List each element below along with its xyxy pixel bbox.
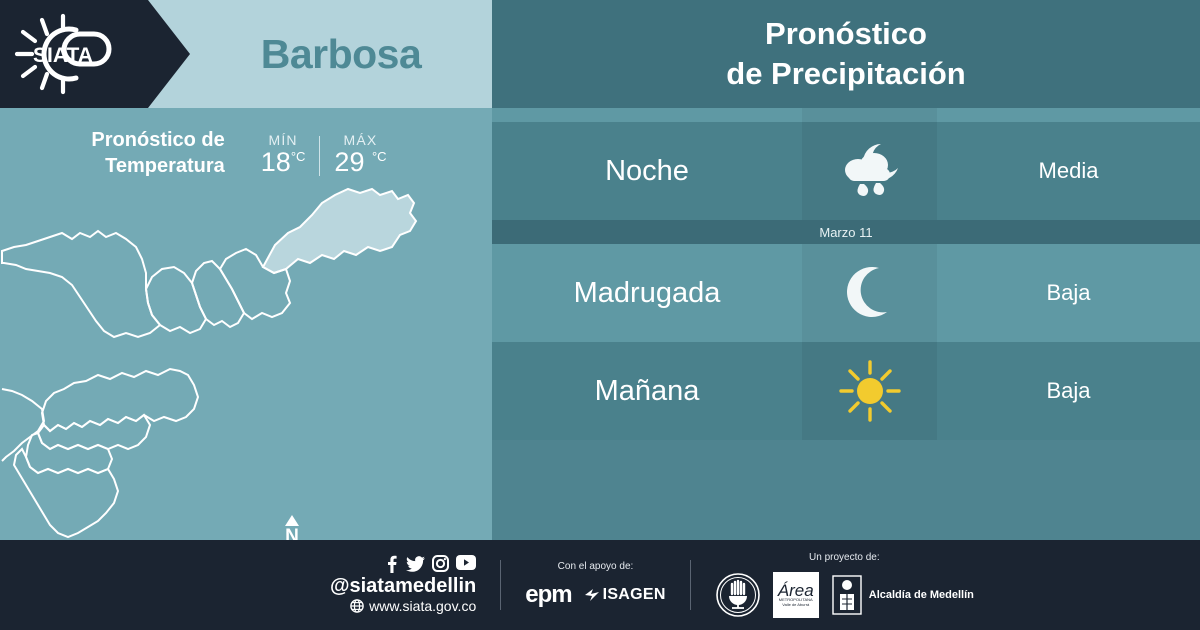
alcaldia-label: Alcaldía de Medellín <box>869 589 974 601</box>
project-logos: Área METROPOLITANA Valle de Aburrá Alcal… <box>715 572 974 618</box>
min-value-wrap: 18°C <box>261 149 306 176</box>
forecast-row: Noche Media <box>492 122 1200 220</box>
support-caption: Con el apoyo de: <box>525 561 666 572</box>
footer-social-block: @siatamedellin www.siata.gov.co <box>330 555 476 615</box>
weather-icon-cell <box>802 244 937 342</box>
temperature-min: MÍN 18°C <box>247 132 320 176</box>
map-svg <box>0 185 492 540</box>
period-label: Mañana <box>492 342 802 440</box>
min-label: MÍN <box>261 132 306 148</box>
forecast-row: Mañana Baja <box>492 342 1200 440</box>
website-label: www.siata.gov.co <box>369 598 476 615</box>
youtube-icon[interactable] <box>456 555 476 570</box>
min-value: 18 <box>261 147 291 177</box>
city-title: Barbosa <box>190 0 492 108</box>
left-panel: SIATA Barbosa Pronóstico de Temperatura … <box>0 0 492 540</box>
precipitation-title: Pronóstico de Precipitación <box>726 14 965 93</box>
support-logos: epm ISAGEN <box>525 581 666 609</box>
isagen-mark-icon <box>584 587 600 603</box>
weather-icon-cell <box>802 122 937 220</box>
map-region-caldas <box>14 449 118 537</box>
temperature-values: MÍN 18°C MÁX 29 °C <box>247 132 401 176</box>
max-value: 29 <box>334 147 364 177</box>
area-script-label: Área <box>778 583 814 598</box>
footer-divider-2 <box>690 560 691 610</box>
map-region-sabaneta <box>26 433 112 473</box>
twitter-icon[interactable] <box>406 555 425 573</box>
sun-cloud-icon: SIATA <box>10 10 140 98</box>
isagen-label: ISAGEN <box>603 586 666 604</box>
right-panel: Pronóstico de Precipitación Marzo 10 Tar… <box>492 0 1200 540</box>
temperature-title-line1: Pronóstico de <box>91 128 224 154</box>
forecast-row: Madrugada Baja <box>492 244 1200 342</box>
alcaldia-emblem-icon <box>831 574 863 616</box>
footer-divider <box>500 560 501 610</box>
aburra-valley-map: N <box>0 185 492 540</box>
map-region-itagui <box>38 415 150 449</box>
precipitation-title-line2: de Precipitación <box>726 56 965 91</box>
precipitation-level: Media <box>937 122 1200 220</box>
date-band-day2: Marzo 11 <box>492 220 1200 244</box>
map-region-bello <box>146 267 206 333</box>
temperature-title-line2: Temperatura <box>91 154 224 180</box>
crescent-moon-icon <box>839 262 901 324</box>
globe-icon <box>350 599 364 613</box>
footer: @siatamedellin www.siata.gov.co Con el a… <box>0 540 1200 630</box>
temperature-title: Pronóstico de Temperatura <box>91 128 224 179</box>
temperature-block: Pronóstico de Temperatura MÍN 18°C MÁX 2… <box>0 118 492 190</box>
temperature-max: MÁX 29 °C <box>320 132 400 176</box>
period-label: Noche <box>492 122 802 220</box>
siata-logo-text: SIATA <box>33 44 93 67</box>
north-arrow-icon <box>285 515 299 526</box>
footer-website[interactable]: www.siata.gov.co <box>330 598 476 615</box>
udea-seal-icon <box>715 572 761 618</box>
weather-forecast-infographic: SIATA Barbosa Pronóstico de Temperatura … <box>0 0 1200 630</box>
map-region-barbosa <box>263 189 416 273</box>
alcaldia-logo: Alcaldía de Medellín <box>831 574 974 616</box>
min-unit: °C <box>291 149 306 164</box>
facebook-icon[interactable] <box>383 555 399 573</box>
area-sub-label-2: Valle de Aburrá <box>782 603 809 607</box>
epm-logo: epm <box>525 581 571 609</box>
sun-icon <box>837 358 903 424</box>
weather-icon-cell <box>802 342 937 440</box>
precipitation-level: Baja <box>937 342 1200 440</box>
precipitation-level: Baja <box>937 244 1200 342</box>
instagram-icon[interactable] <box>432 555 449 572</box>
social-icons <box>330 555 476 573</box>
isagen-logo: ISAGEN <box>584 586 666 604</box>
map-region-copacabana <box>192 261 244 327</box>
map-region-northwest <box>2 231 160 337</box>
footer-support-block: Con el apoyo de: epm ISAGEN <box>525 561 666 609</box>
max-label: MÁX <box>334 132 386 148</box>
social-handle[interactable]: @siatamedellin <box>330 575 476 598</box>
area-metropolitana-logo: Área METROPOLITANA Valle de Aburrá <box>773 572 819 618</box>
max-value-wrap: 29 °C <box>334 149 386 176</box>
precipitation-header: Pronóstico de Precipitación <box>492 0 1200 108</box>
project-caption: Un proyecto de: <box>715 552 974 563</box>
max-unit: °C <box>372 149 387 164</box>
footer-project-block: Un proyecto de: Área METROPOLITANA Valle… <box>715 552 974 618</box>
precipitation-title-line1: Pronóstico <box>765 16 927 51</box>
moon-rain-cloud-icon <box>834 138 906 204</box>
period-label: Madrugada <box>492 244 802 342</box>
